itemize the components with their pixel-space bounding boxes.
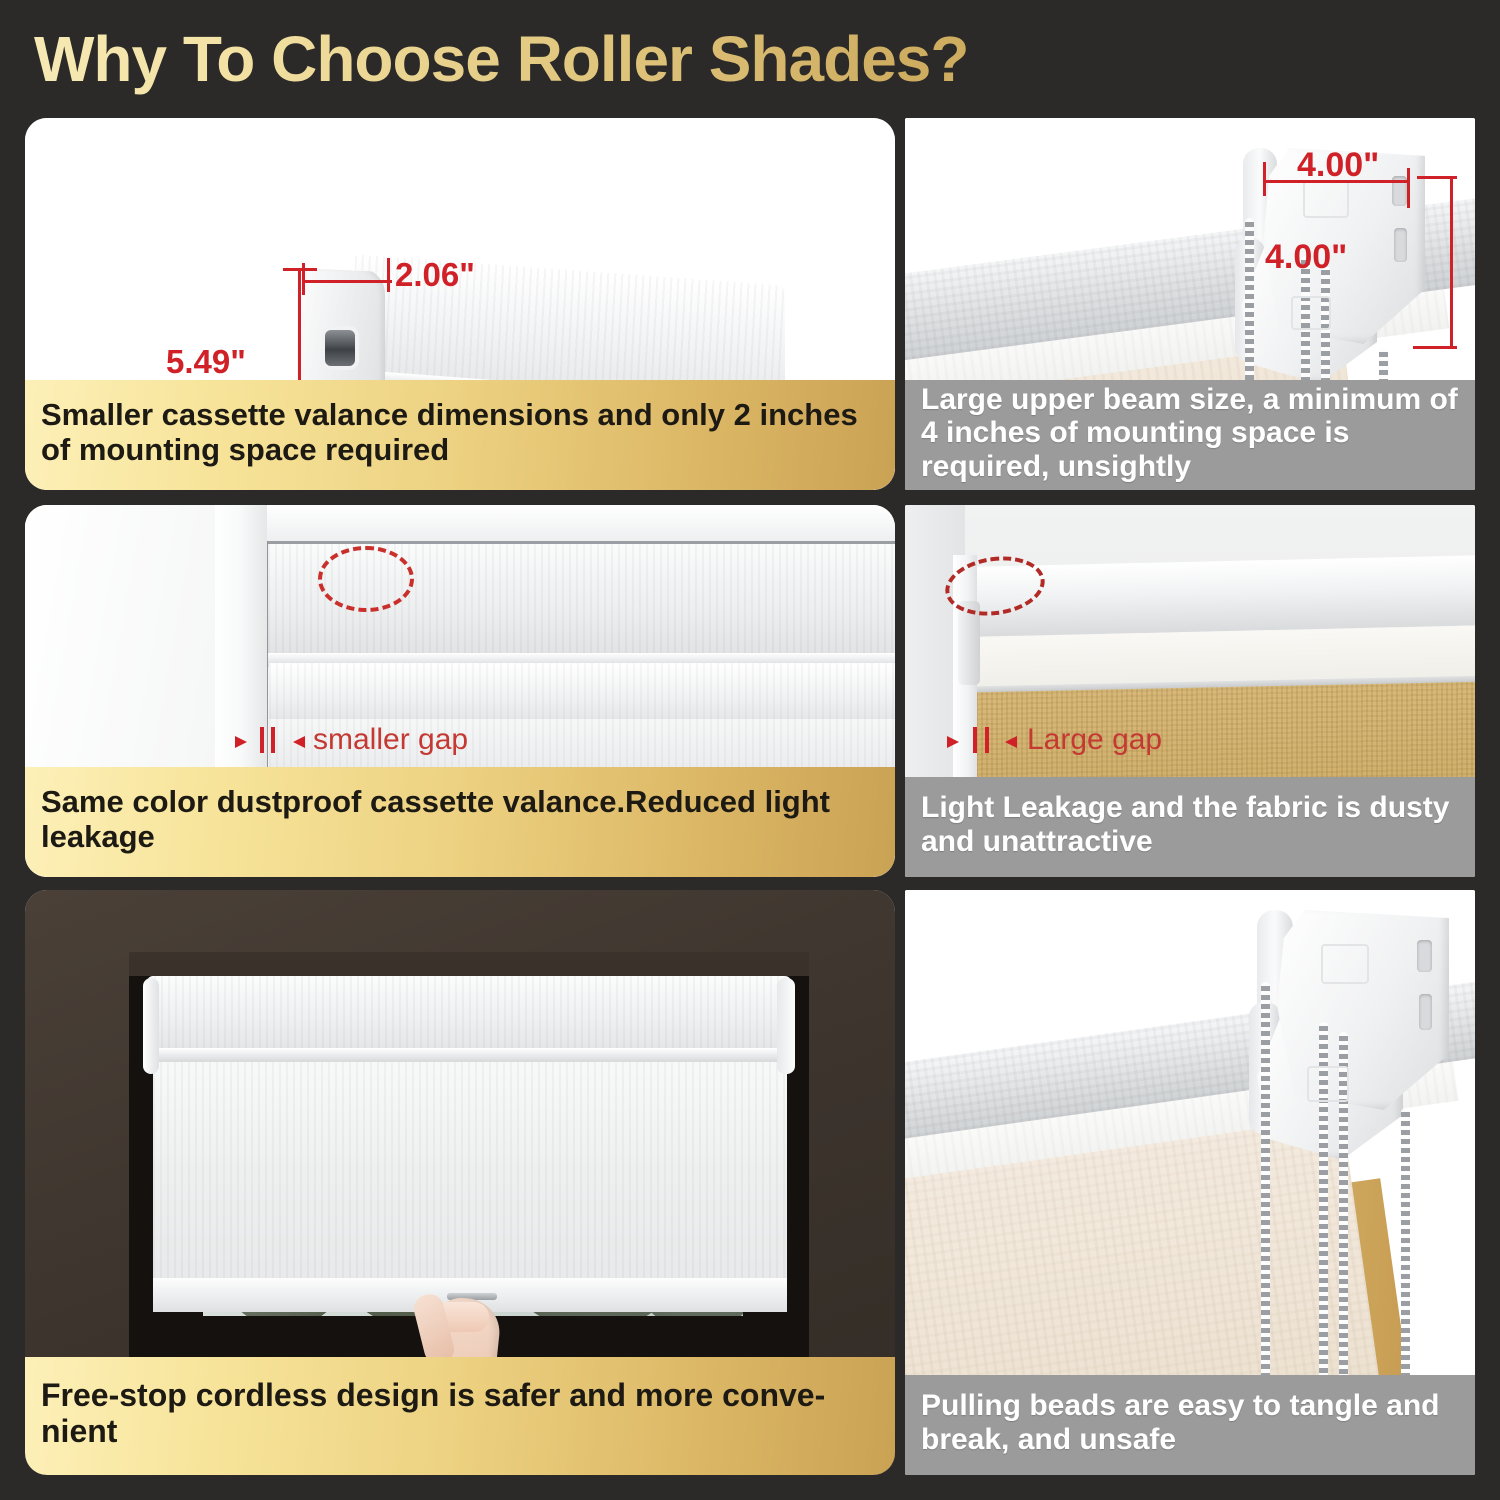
shade-fabric — [153, 1058, 787, 1288]
gap-tick-left — [973, 727, 977, 753]
bracket-slot-lower — [1419, 994, 1432, 1030]
width-dimension-tick-right — [387, 258, 390, 292]
height-dimension-tick-bottom — [1413, 346, 1457, 349]
gap-tick-left — [260, 727, 264, 753]
panel-2-caption: Large upper beam size, a minimum of 4 in… — [905, 380, 1475, 490]
height-dimension-line — [1450, 176, 1453, 348]
width-dimension-label: 4.00" — [1297, 146, 1379, 185]
bracket-emboss-upper — [1321, 944, 1369, 984]
bead-chain-1 — [1261, 982, 1270, 1392]
valance-end-cap-right — [777, 978, 795, 1074]
highlight-circle-icon — [318, 546, 414, 612]
cassette-valance — [147, 976, 791, 1054]
height-dimension-tick-top — [1417, 176, 1457, 179]
panel-6-caption: Pulling beads are easy to tangle and bre… — [905, 1375, 1475, 1475]
bracket-emboss-lower — [1291, 296, 1331, 330]
panel-pro-smaller-gap: smaller gap Same color dustproof cassett… — [25, 505, 895, 877]
roller-fabric-upper — [269, 663, 895, 723]
gap-tick-right — [985, 727, 989, 753]
panel-4-caption: Light Leakage and the fabric is dusty an… — [905, 777, 1475, 877]
width-dimension-label: 2.06" — [395, 256, 475, 294]
panel-pro-cordless-design: Free-stop cordless design is safer and m… — [25, 890, 895, 1475]
height-dimension-tick-top — [283, 268, 317, 271]
width-dimension-tick-left — [1263, 162, 1266, 196]
bracket-emboss-lower — [1307, 1066, 1349, 1102]
page-title: Why To Choose Roller Shades? — [34, 22, 1134, 96]
panel-con-large-beam: 4.00" 4.00" Large upper beam size, a min… — [905, 118, 1475, 490]
gap-arrow-right-icon — [235, 736, 247, 748]
bracket-emboss-upper — [1303, 180, 1349, 218]
panel-pro-cassette-dimensions: 2.06" 5.49" Smaller cassette valance dim… — [25, 118, 895, 490]
width-dimension-tick-right — [1407, 168, 1410, 208]
panel-3-caption: Same color dustproof cassette valance.Re… — [25, 767, 895, 877]
height-dimension-label: 4.00" — [1265, 238, 1347, 277]
roller-tube — [969, 555, 1475, 637]
width-dimension-line — [302, 280, 392, 283]
gap-arrow-right-icon — [947, 736, 959, 748]
panel-1-caption: Smaller cassette valance dimensions and … — [25, 380, 895, 490]
window-frame-top — [215, 505, 895, 541]
valance-lip — [147, 1048, 791, 1062]
bracket-slot-lower — [1394, 228, 1407, 262]
gap-arrow-left-icon — [293, 736, 305, 748]
title-bar: Why To Choose Roller Shades? — [34, 22, 1134, 100]
panel-con-pulling-beads: Pulling beads are easy to tangle and bre… — [905, 890, 1475, 1475]
height-dimension-label: 5.49" — [166, 343, 246, 381]
panel-con-light-leakage: Large gap Light Leakage and the fabric i… — [905, 505, 1475, 877]
gap-arrow-left-icon — [1005, 736, 1017, 748]
bead-chain-4 — [1401, 1108, 1410, 1388]
gap-label: Large gap — [1027, 723, 1162, 757]
bracket-slot-upper — [1417, 940, 1432, 972]
gap-tick-right — [271, 727, 275, 753]
panel-5-caption: Free-stop cordless design is safer and m… — [25, 1357, 895, 1475]
gap-label: smaller gap — [313, 723, 468, 757]
end-cap-slot-icon — [325, 330, 355, 366]
valance-end-cap-left — [143, 978, 159, 1074]
